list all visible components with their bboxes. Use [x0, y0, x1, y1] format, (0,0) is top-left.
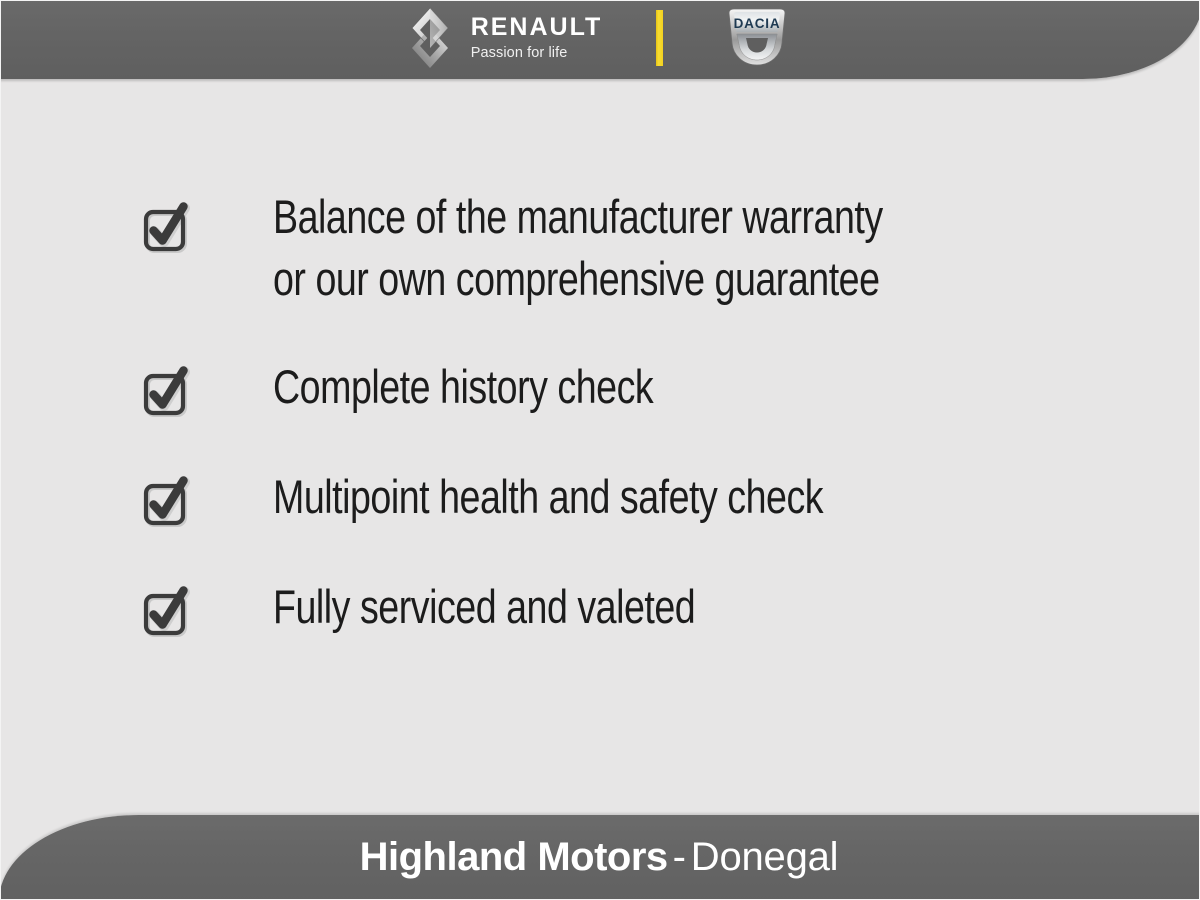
renault-tagline: Passion for life: [471, 46, 603, 61]
dealer-separator: -: [668, 835, 691, 879]
dealer-footer-content: Highland Motors-Donegal: [0, 815, 1199, 899]
renault-diamond-icon: [403, 7, 457, 69]
list-item-label: Complete history check: [273, 356, 935, 418]
list-item: Balance of the manufacturer warranty or …: [141, 186, 1101, 310]
dealer-name: Highland Motors: [360, 835, 668, 879]
checkbox-checked-icon: [141, 364, 197, 420]
dealer-banner: Highland Motors-Donegal: [360, 837, 839, 877]
vertical-divider: [656, 10, 663, 66]
renault-wordmark: RENAULT: [471, 15, 603, 40]
dealer-footer-bar: Highland Motors-Donegal: [0, 815, 1200, 900]
renault-wordmark-block: RENAULT Passion for life: [471, 15, 603, 61]
list-item: Complete history check: [141, 356, 1101, 420]
svg-text:DACIA: DACIA: [734, 16, 781, 31]
dacia-shield-icon: DACIA: [719, 7, 795, 69]
list-item: Fully serviced and valeted: [141, 576, 1101, 640]
slide-canvas: RENAULT Passion for life: [0, 0, 1200, 900]
list-item-label: Balance of the manufacturer warranty or …: [273, 186, 935, 310]
checkbox-checked-icon: [141, 584, 197, 640]
list-item-label: Multipoint health and safety check: [273, 466, 935, 528]
list-item: Multipoint health and safety check: [141, 466, 1101, 530]
brand-header-bar: RENAULT Passion for life: [0, 0, 1200, 79]
checkbox-checked-icon: [141, 474, 197, 530]
benefits-checklist: Balance of the manufacturer warranty or …: [141, 186, 1101, 640]
renault-logo-lockup: RENAULT Passion for life: [403, 7, 603, 69]
main-content: Balance of the manufacturer warranty or …: [1, 81, 1200, 811]
list-item-label: Fully serviced and valeted: [273, 576, 935, 638]
dealer-location: Donegal: [691, 835, 839, 879]
brand-header-content: RENAULT Passion for life: [0, 0, 1199, 77]
checkbox-checked-icon: [141, 200, 197, 256]
